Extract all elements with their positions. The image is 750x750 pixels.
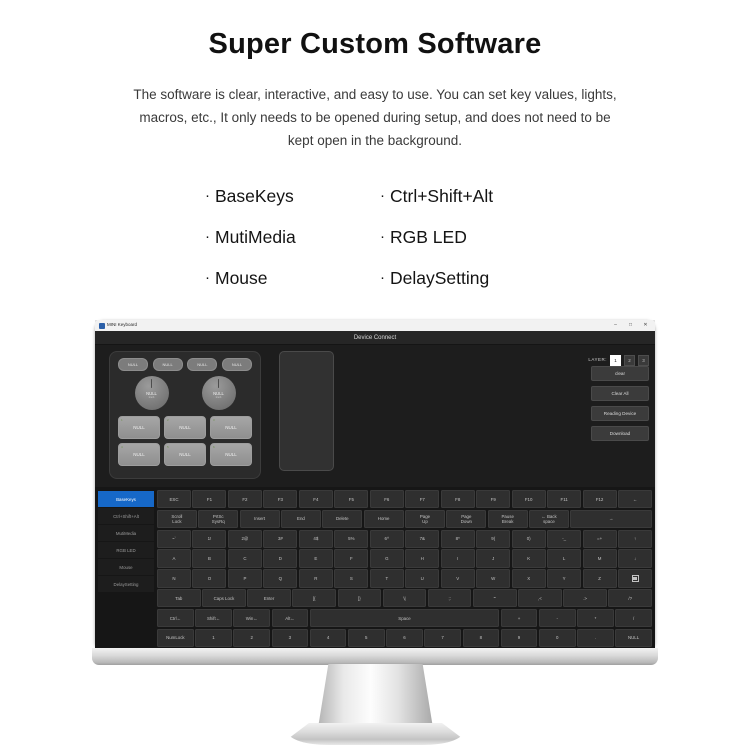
pad-label: NULL	[179, 452, 191, 457]
key-label: NULL	[628, 635, 639, 640]
key-label: ↑	[634, 536, 636, 541]
key-label: Q	[279, 576, 282, 581]
maximize-icon[interactable]: □	[627, 323, 634, 328]
key-label: =+	[597, 536, 602, 541]
key-f6[interactable]: F6	[370, 490, 404, 508]
bullet-icon: ·	[380, 188, 385, 203]
key-enter[interactable]: Enter	[247, 589, 291, 607]
keyboard-row: Ctrl←Shift←Win←Alt←Space+-*/	[157, 609, 652, 627]
macro-pad-key[interactable]: 3NULL	[210, 416, 252, 439]
key-label: F10	[525, 497, 533, 502]
key-label: 2	[250, 635, 252, 640]
key-scroll[interactable]: ScrollLock	[157, 510, 197, 528]
key-prtsc[interactable]: PrtScSysRq	[198, 510, 238, 528]
key-label: Caps Lock	[214, 596, 235, 601]
key-home[interactable]: Home	[364, 510, 404, 528]
key-label: B	[208, 556, 211, 561]
key-label: ←	[633, 497, 637, 502]
key-8[interactable]: 8	[463, 629, 500, 647]
key-x[interactable]: X	[512, 569, 546, 587]
key-label: N	[172, 576, 175, 581]
keyboard-row: ABCDEFGHIJKLM↓	[157, 549, 652, 567]
clear-button[interactable]: clear	[591, 366, 649, 381]
key-esc[interactable]: ESC	[157, 490, 191, 508]
key-0[interactable]: 0	[539, 629, 576, 647]
app-icon	[99, 323, 105, 329]
key-label: -_	[562, 536, 566, 541]
key-sublabel: space	[543, 519, 555, 524]
key-space[interactable]: Space	[310, 609, 499, 627]
keyboard-row: NumLock1234567890.NULL	[157, 629, 652, 647]
key--[interactable]: /?	[608, 589, 652, 607]
keymap-area: BaseKeysCtrl+Shift+AltMutiMediaRGB LEDMo…	[95, 487, 655, 650]
key-label: ;:	[448, 596, 450, 601]
key--[interactable]: =+	[583, 530, 617, 548]
monitor-bezel: MINI Keyboard – □ ✕ Device Connect NULLN…	[95, 320, 655, 650]
keyboard-row: ~`1!2@3#4$5%6^7&8*9(0)-_=+↑	[157, 530, 652, 548]
pad-index-label: 6	[213, 445, 215, 449]
key-q[interactable]: Q	[263, 569, 297, 587]
key-page[interactable]: PageUp	[405, 510, 445, 528]
macro-pad-key[interactable]: 5NULL	[164, 443, 206, 466]
key-f10[interactable]: F10	[512, 490, 546, 508]
bullet-icon: ·	[380, 229, 385, 244]
key--[interactable]: ←	[618, 490, 652, 508]
key-label: 7	[441, 635, 443, 640]
app-window: MINI Keyboard – □ ✕ Device Connect NULLN…	[95, 320, 655, 650]
rotary-knob[interactable]: NULLknob	[135, 376, 169, 410]
key-label: R	[314, 576, 317, 581]
knob-sublabel: knob	[216, 397, 222, 400]
key-label: M	[598, 556, 602, 561]
reading-device-button[interactable]: Reading Device	[591, 406, 649, 421]
key--[interactable]: ;:	[428, 589, 472, 607]
key-label: H	[421, 556, 424, 561]
key-label: 8*	[456, 536, 460, 541]
key-label: F	[350, 556, 353, 561]
clear-all-button[interactable]: Clear All	[591, 386, 649, 401]
key-shift-[interactable]: Shift←	[195, 609, 232, 627]
key-sublabel: Up	[422, 519, 428, 524]
key-label: Y	[563, 576, 566, 581]
pad-label: NULL	[225, 452, 237, 457]
key-3[interactable]: 3	[272, 629, 309, 647]
key-f8[interactable]: F8	[441, 490, 475, 508]
feature-item: ·BaseKeys	[205, 186, 370, 207]
key-label: Win←	[246, 616, 258, 621]
key-label: 4	[327, 635, 329, 640]
key-4[interactable]: 4	[310, 629, 347, 647]
key--[interactable]: '"	[473, 589, 517, 607]
key-d[interactable]: D	[263, 549, 297, 567]
key-label: 5	[365, 635, 367, 640]
key-tab[interactable]: Tab	[157, 589, 201, 607]
key-label: *	[595, 616, 597, 621]
key-b[interactable]: B	[192, 549, 226, 567]
key-caps-lock[interactable]: Caps Lock	[202, 589, 246, 607]
encoder-pill-row: NULLNULLNULLNULL	[118, 358, 252, 371]
key-sublabel: Lock	[172, 519, 181, 524]
key-label: 5%	[348, 536, 354, 541]
key-page[interactable]: PageDown	[446, 510, 486, 528]
key-n[interactable]: N	[157, 569, 191, 587]
key-label: 7&	[420, 536, 425, 541]
key-label: Ctrl←	[170, 616, 181, 621]
key-1-[interactable]: 1!	[192, 530, 226, 548]
pad-index-label: 1	[121, 418, 123, 422]
feature-item: ·Ctrl+Shift+Alt	[380, 186, 545, 207]
monitor-mockup: MINI Keyboard – □ ✕ Device Connect NULLN…	[0, 318, 750, 750]
key--[interactable]: -	[539, 609, 576, 627]
key-e[interactable]: E	[299, 549, 333, 567]
rotary-knob[interactable]: NULLknob	[202, 376, 236, 410]
key-f4[interactable]: F4	[299, 490, 333, 508]
key-label: K	[527, 556, 530, 561]
key-label: F8	[455, 497, 460, 502]
key-label: [{	[313, 596, 316, 601]
key--[interactable]: /	[615, 609, 652, 627]
key-label: F7	[420, 497, 425, 502]
key-label: ↓	[634, 556, 636, 561]
key-label: O	[208, 576, 211, 581]
key--[interactable]: ↑	[618, 530, 652, 548]
key-label: F3	[278, 497, 283, 502]
macro-pad-key[interactable]: 2NULL	[164, 416, 206, 439]
key-label: C	[243, 556, 246, 561]
mode-sidebar: BaseKeysCtrl+Shift+AltMutiMediaRGB LEDMo…	[98, 490, 154, 647]
macro-pad-key[interactable]: 4NULL	[118, 443, 160, 466]
preview-panel[interactable]	[279, 351, 334, 471]
key-label: F4	[313, 497, 318, 502]
key-label: F5	[349, 497, 354, 502]
bullet-icon: ·	[205, 188, 210, 203]
bullet-icon: ·	[205, 270, 210, 285]
feature-item: ·DelaySetting	[380, 268, 545, 289]
feature-list: ·BaseKeys·Ctrl+Shift+Alt·MutiMedia·RGB L…	[205, 186, 545, 289]
key-5-[interactable]: 5%	[334, 530, 368, 548]
key--[interactable]: \|	[383, 589, 427, 607]
key-label: F2	[242, 497, 247, 502]
app-body: NULLNULLNULLNULL NULLknobNULLknob 1NULL2…	[95, 345, 655, 650]
key-label: P	[243, 576, 246, 581]
key-f5[interactable]: F5	[334, 490, 368, 508]
sidebar-item-mouse[interactable]: Mouse	[98, 559, 154, 575]
monitor-stand-base	[288, 723, 463, 745]
key-v[interactable]: V	[441, 569, 475, 587]
feature-item: ·Mouse	[205, 268, 370, 289]
key-label: D	[279, 556, 282, 561]
knob-indicator-icon	[151, 379, 153, 388]
key-label: '"	[494, 596, 496, 601]
key-label: 3#	[278, 536, 283, 541]
key-label: .	[595, 635, 596, 640]
pad-index-label: 5	[167, 445, 169, 449]
key-label: 9	[518, 635, 520, 640]
key-label: F1	[207, 497, 212, 502]
key-6[interactable]: 6	[386, 629, 423, 647]
key-label: Alt←	[285, 616, 295, 621]
key-f7[interactable]: F7	[405, 490, 439, 508]
virtual-keyboard: ESCF1F2F3F4F5F6F7F8F9F10F11F12←ScrollLoc…	[157, 490, 652, 647]
key-label: Space	[398, 616, 410, 621]
key-label: 0	[556, 635, 558, 640]
keyboard-row: NOPQRSTUVWXYZ	[157, 569, 652, 587]
key-label: 1!	[208, 536, 212, 541]
key-label: 4$	[313, 536, 318, 541]
layer-label: LAYER:	[588, 355, 607, 362]
feature-label: BaseKeys	[215, 186, 294, 207]
layer-selector[interactable]: LAYER: 123	[588, 351, 649, 366]
key-f[interactable]: F	[334, 549, 368, 567]
key-label: 2@	[241, 536, 248, 541]
key-label: A	[173, 556, 176, 561]
key-label: Delete	[336, 516, 349, 521]
minimize-icon[interactable]: –	[612, 323, 619, 328]
encoder-pill[interactable]: NULL	[153, 358, 183, 371]
key-label: 6^	[385, 536, 390, 541]
key-sublabel: Down	[461, 519, 472, 524]
right-column: LAYER: 123 clearClear AllReading DeviceD…	[581, 351, 649, 483]
key-0-[interactable]: 0)	[512, 530, 546, 548]
macro-pad-key[interactable]: 6NULL	[210, 443, 252, 466]
key-m[interactable]: M	[583, 549, 617, 567]
key-7[interactable]: 7	[424, 629, 461, 647]
device-connect-bar: Device Connect	[95, 331, 655, 345]
sidebar-item-basekeys[interactable]: BaseKeys	[98, 491, 154, 507]
key-label: /?	[628, 596, 632, 601]
menu-icon[interactable]	[618, 569, 652, 587]
feature-label: RGB LED	[390, 227, 467, 248]
key-label: 3	[289, 635, 291, 640]
device-editor-area: NULLNULLNULLNULL NULLknobNULLknob 1NULL2…	[95, 345, 655, 487]
key--[interactable]: +	[501, 609, 538, 627]
key-f9[interactable]: F9	[476, 490, 510, 508]
knob-indicator-icon	[218, 379, 220, 388]
feature-label: DelaySetting	[390, 268, 489, 289]
window-title: MINI Keyboard	[107, 323, 612, 328]
key-label: ~`	[172, 536, 176, 541]
knob-sublabel: knob	[149, 397, 155, 400]
pad-label: NULL	[225, 425, 237, 430]
key-w[interactable]: W	[476, 569, 510, 587]
key-r[interactable]: R	[299, 569, 333, 587]
key-label: Shift←	[207, 616, 220, 621]
key-label: ESC	[169, 497, 178, 502]
sidebar-item-mutimedia[interactable]: MutiMedia	[98, 525, 154, 541]
key-f2[interactable]: F2	[228, 490, 262, 508]
key-label: +	[518, 616, 521, 621]
key-label: X	[527, 576, 530, 581]
key-label: 6	[403, 635, 405, 640]
key-j[interactable]: J	[476, 549, 510, 567]
key-sublabel: Break	[502, 519, 513, 524]
keyboard-row: TabCaps LockEnter[{]}\|;:'",<.>/?	[157, 589, 652, 607]
pad-label: NULL	[133, 452, 145, 457]
pad-label: NULL	[133, 425, 145, 430]
key--back[interactable]: ← Backspace	[529, 510, 569, 528]
key-2-[interactable]: 2@	[228, 530, 262, 548]
key-label: Z	[598, 576, 601, 581]
layer-button-1[interactable]: 1	[610, 355, 621, 366]
key-label: F9	[491, 497, 496, 502]
key-f11[interactable]: F11	[547, 490, 581, 508]
key-h[interactable]: H	[405, 549, 439, 567]
key-label: S	[350, 576, 353, 581]
page-title: Super Custom Software	[0, 28, 750, 61]
sidebar-item-rgb-led[interactable]: RGB LED	[98, 542, 154, 558]
key-label: -	[557, 616, 558, 621]
key-t[interactable]: T	[370, 569, 404, 587]
key--[interactable]: -_	[547, 530, 581, 548]
close-icon[interactable]: ✕	[642, 323, 649, 328]
key-label: U	[421, 576, 424, 581]
key-i[interactable]: I	[441, 549, 475, 567]
key-y[interactable]: Y	[547, 569, 581, 587]
bullet-icon: ·	[380, 270, 385, 285]
action-button-group: clearClear AllReading DeviceDownload	[591, 366, 649, 443]
key-insert[interactable]: Insert	[240, 510, 280, 528]
key--[interactable]: →	[570, 510, 651, 528]
key--[interactable]: ,<	[518, 589, 562, 607]
key-label: F11	[561, 497, 568, 502]
key-alt-[interactable]: Alt←	[272, 609, 309, 627]
key-f12[interactable]: F12	[583, 490, 617, 508]
key-f3[interactable]: F3	[263, 490, 297, 508]
key-4-[interactable]: 4$	[299, 530, 333, 548]
key-label: G	[385, 556, 388, 561]
key-2[interactable]: 2	[233, 629, 270, 647]
key-label: NumLock	[166, 635, 185, 640]
key-9-[interactable]: 9(	[476, 530, 510, 548]
feature-item: ·RGB LED	[380, 227, 545, 248]
feature-label: Ctrl+Shift+Alt	[390, 186, 493, 207]
key--[interactable]: ]}	[338, 589, 382, 607]
key-label: ,<	[538, 596, 542, 601]
feature-label: Mouse	[215, 268, 268, 289]
pad-grid: 1NULL2NULL3NULL4NULL5NULL6NULL	[118, 416, 252, 466]
feature-label: MutiMedia	[215, 227, 296, 248]
key-8-[interactable]: 8*	[441, 530, 475, 548]
key-label: T	[385, 576, 388, 581]
key-sublabel: SysRq	[212, 519, 225, 524]
window-titlebar: MINI Keyboard – □ ✕	[95, 320, 655, 331]
encoder-pill[interactable]: NULL	[222, 358, 252, 371]
key-label: \|	[403, 596, 405, 601]
pad-index-label: 2	[167, 418, 169, 422]
macro-pad-key[interactable]: 1NULL	[118, 416, 160, 439]
key-label: L	[563, 556, 565, 561]
key-label: 1	[212, 635, 214, 640]
key-delete[interactable]: Delete	[322, 510, 362, 528]
key-label: V	[456, 576, 459, 581]
key--[interactable]: .	[577, 629, 614, 647]
key-l[interactable]: L	[547, 549, 581, 567]
monitor-chin	[92, 648, 658, 665]
knob-row: NULLknobNULLknob	[118, 376, 252, 410]
key-null[interactable]: NULL	[615, 629, 652, 647]
key--[interactable]: ↓	[618, 549, 652, 567]
key-c[interactable]: C	[228, 549, 262, 567]
key-label: 8	[480, 635, 482, 640]
key-label: /	[633, 616, 634, 621]
key-5[interactable]: 5	[348, 629, 385, 647]
key-k[interactable]: K	[512, 549, 546, 567]
encoder-pill[interactable]: NULL	[187, 358, 217, 371]
key-label: Home	[378, 516, 390, 521]
device-layout-panel: NULLNULLNULLNULL NULLknobNULLknob 1NULL2…	[109, 351, 261, 479]
key-label: J	[492, 556, 494, 561]
key-3-[interactable]: 3#	[263, 530, 297, 548]
key-ctrl-[interactable]: Ctrl←	[157, 609, 194, 627]
download-button[interactable]: Download	[591, 426, 649, 441]
key-label: End	[297, 516, 305, 521]
key-label: I	[457, 556, 458, 561]
bullet-icon: ·	[205, 229, 210, 244]
pad-index-label: 4	[121, 445, 123, 449]
key-7-[interactable]: 7&	[405, 530, 439, 548]
key-9[interactable]: 9	[501, 629, 538, 647]
key-label: Tab	[175, 596, 182, 601]
key-6-[interactable]: 6^	[370, 530, 404, 548]
keyboard-row: ESCF1F2F3F4F5F6F7F8F9F10F11F12←	[157, 490, 652, 508]
key-label: .>	[583, 596, 587, 601]
key-label: Enter	[264, 596, 275, 601]
page-description: The software is clear, interactive, and …	[125, 83, 625, 152]
key-label: E	[314, 556, 317, 561]
key--[interactable]: *	[577, 609, 614, 627]
key--[interactable]: [{	[292, 589, 336, 607]
key-numlock[interactable]: NumLock	[157, 629, 194, 647]
window-controls[interactable]: – □ ✕	[612, 323, 653, 328]
key-win-[interactable]: Win←	[233, 609, 270, 627]
key-a[interactable]: A	[157, 549, 191, 567]
sidebar-item-ctrl-shift-alt[interactable]: Ctrl+Shift+Alt	[98, 508, 154, 524]
key-label: 9(	[491, 536, 495, 541]
key-label: 0)	[527, 536, 531, 541]
key-p[interactable]: P	[228, 569, 262, 587]
key-label: W	[491, 576, 495, 581]
layer-button-3[interactable]: 3	[638, 355, 649, 366]
encoder-pill[interactable]: NULL	[118, 358, 148, 371]
key-f1[interactable]: F1	[192, 490, 226, 508]
keyboard-row: ScrollLockPrtScSysRqInsertEndDeleteHomeP…	[157, 510, 652, 528]
hero-section: Super Custom Software The software is cl…	[0, 0, 750, 152]
feature-item: ·MutiMedia	[205, 227, 370, 248]
key-o[interactable]: O	[192, 569, 226, 587]
monitor-stand-neck	[318, 664, 433, 728]
sidebar-item-delaysetting[interactable]: DelaySetting	[98, 576, 154, 592]
key--[interactable]: ~`	[157, 530, 191, 548]
key-u[interactable]: U	[405, 569, 439, 587]
pad-label: NULL	[179, 425, 191, 430]
key-s[interactable]: S	[334, 569, 368, 587]
key-label: Insert	[254, 516, 265, 521]
key-g[interactable]: G	[370, 549, 404, 567]
key-label: →	[609, 516, 613, 521]
key-end[interactable]: End	[281, 510, 321, 528]
key-pause[interactable]: PauseBreak	[488, 510, 528, 528]
key-1[interactable]: 1	[195, 629, 232, 647]
layer-button-2[interactable]: 2	[624, 355, 635, 366]
key-label: ]}	[358, 596, 361, 601]
key-label: F6	[384, 497, 389, 502]
key-label: F12	[596, 497, 604, 502]
pad-index-label: 3	[213, 418, 215, 422]
key-z[interactable]: Z	[583, 569, 617, 587]
key--[interactable]: .>	[563, 589, 607, 607]
